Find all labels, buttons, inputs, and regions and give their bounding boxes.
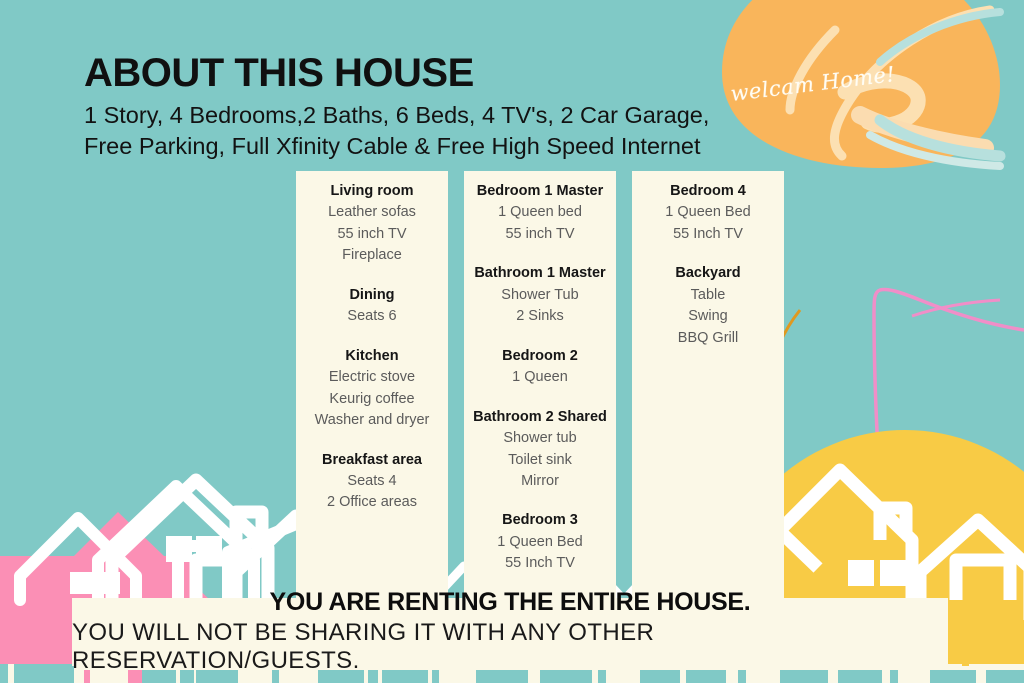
welcome-script-text: welcam Home! — [729, 62, 896, 106]
subtitle-line-1: 1 Story, 4 Bedrooms,2 Baths, 6 Beds, 4 T… — [84, 100, 709, 131]
room-item: Leather sofas — [300, 202, 444, 223]
room-item: 2 Office areas — [300, 492, 444, 513]
room-group: Bedroom 4 1 Queen Bed 55 Inch TV — [636, 181, 780, 245]
room-title: Bedroom 4 — [636, 181, 780, 202]
room-group: Dining Seats 6 — [300, 285, 444, 328]
room-title: Bathroom 2 Shared — [468, 407, 612, 428]
swoosh-lightteal-1 — [880, 12, 1000, 62]
room-item: Table — [636, 285, 780, 306]
room-group: Bathroom 1 Master Shower Tub 2 Sinks — [468, 263, 612, 327]
room-item: 2 Sinks — [468, 306, 612, 327]
room-item: Seats 4 — [300, 471, 444, 492]
room-columns: Living room Leather sofas 55 inch TV Fir… — [296, 171, 784, 598]
house-windows-right — [848, 560, 906, 586]
room-title: Living room — [300, 181, 444, 202]
house-center-left — [112, 480, 268, 605]
room-group: Bathroom 2 Shared Shower tub Toilet sink… — [468, 407, 612, 493]
thin-line-pink-upper — [912, 300, 1000, 316]
room-item: Electric stove — [300, 367, 444, 388]
room-item: Keurig coffee — [300, 389, 444, 410]
room-group: Bedroom 2 1 Queen — [468, 346, 612, 389]
house-windows-left — [166, 536, 222, 562]
room-title: Dining — [300, 285, 444, 306]
room-item: 1 Queen Bed — [468, 532, 612, 553]
room-item: Shower tub — [468, 428, 612, 449]
room-item: BBQ Grill — [636, 328, 780, 349]
room-item: 55 inch TV — [300, 224, 444, 245]
subtitle-line-2: Free Parking, Full Xfinity Cable & Free … — [84, 131, 709, 162]
swoosh-lightteal-2 — [880, 120, 1000, 156]
room-card-column-2: Bedroom 1 Master 1 Queen bed 55 inch TV … — [464, 171, 616, 598]
room-item: 1 Queen bed — [468, 202, 612, 223]
room-item: 55 inch TV — [468, 224, 612, 245]
room-group: Kitchen Electric stove Keurig coffee Was… — [300, 346, 444, 432]
room-card-column-3: Bedroom 4 1 Queen Bed 55 Inch TV Backyar… — [632, 171, 784, 598]
banner-headline: YOU ARE RENTING THE ENTIRE HOUSE. — [270, 588, 751, 617]
room-item: 1 Queen — [468, 367, 612, 388]
room-item: Shower Tub — [468, 285, 612, 306]
room-card-column-1: Living room Leather sofas 55 inch TV Fir… — [296, 171, 448, 598]
page-title: ABOUT THIS HOUSE — [84, 52, 709, 94]
room-item: Fireplace — [300, 245, 444, 266]
room-group: Breakfast area Seats 4 2 Office areas — [300, 450, 444, 514]
room-title: Backyard — [636, 263, 780, 284]
room-title: Kitchen — [300, 346, 444, 367]
room-item: 55 Inch TV — [636, 224, 780, 245]
swoosh-pale-4 — [860, 115, 985, 148]
room-title: Breakfast area — [300, 450, 444, 471]
room-item: 1 Queen Bed — [636, 202, 780, 223]
room-group: Bedroom 3 1 Queen Bed 55 Inch TV — [468, 510, 612, 574]
bottom-notice-banner: YOU ARE RENTING THE ENTIRE HOUSE. YOU WI… — [72, 598, 948, 666]
thin-line-pink-right — [874, 289, 1024, 614]
room-title: Bedroom 3 — [468, 510, 612, 531]
poster-canvas: ABOUT THIS HOUSE 1 Story, 4 Bedrooms,2 B… — [0, 0, 1024, 683]
room-item: Seats 6 — [300, 306, 444, 327]
header-block: ABOUT THIS HOUSE 1 Story, 4 Bedrooms,2 B… — [84, 52, 709, 163]
houses-left-fill — [70, 572, 120, 594]
room-group: Living room Leather sofas 55 inch TV Fir… — [300, 181, 444, 267]
room-title: Bedroom 1 Master — [468, 181, 612, 202]
room-item: Toilet sink — [468, 450, 612, 471]
room-group: Bedroom 1 Master 1 Queen bed 55 inch TV — [468, 181, 612, 245]
room-title: Bathroom 1 Master — [468, 263, 612, 284]
swoosh-lightteal-3 — [870, 135, 1000, 166]
room-item: Swing — [636, 306, 780, 327]
houses-far-right — [956, 560, 1010, 600]
banner-subline: YOU WILL NOT BE SHARING IT WITH ANY OTHE… — [72, 619, 948, 677]
room-item: Mirror — [468, 471, 612, 492]
houses-left — [20, 486, 306, 600]
room-title: Bedroom 2 — [468, 346, 612, 367]
room-item: 55 Inch TV — [468, 553, 612, 574]
room-item: Washer and dryer — [300, 410, 444, 431]
room-group: Backyard Table Swing BBQ Grill — [636, 263, 780, 349]
